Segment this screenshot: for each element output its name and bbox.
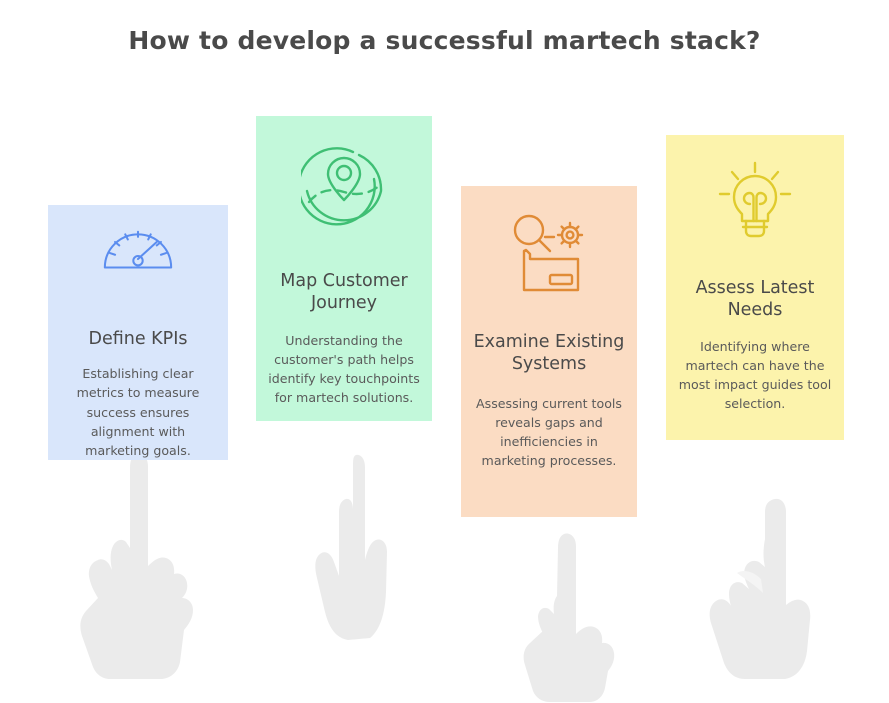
card-title: Map Customer Journey (266, 270, 422, 315)
pointing-hand-3-icon (520, 530, 616, 703)
magnifier-gear-document-icon (508, 213, 590, 297)
page-title: How to develop a successful martech stac… (0, 26, 889, 55)
lightbulb-idea-icon (712, 161, 798, 239)
card-examine-existing-systems[interactable]: Examine Existing Systems Assessing curre… (461, 186, 637, 517)
speedometer-gauge-icon (96, 225, 180, 271)
map-location-pin-icon (301, 146, 387, 232)
pointing-hand-4-icon (707, 495, 815, 680)
card-assess-latest-needs[interactable]: Assess Latest Needs Identifying where ma… (666, 135, 844, 440)
card-body: Assessing current tools reveals gaps and… (473, 394, 625, 471)
card-title: Assess Latest Needs (678, 277, 832, 322)
infographic-canvas: How to develop a successful martech stac… (0, 0, 889, 703)
card-map-customer-journey[interactable]: Map Customer Journey Understanding the c… (256, 116, 432, 421)
card-body: Identifying where martech can have the m… (678, 337, 832, 414)
pointing-hand-2-icon (312, 452, 398, 642)
card-body: Understanding the customer's path helps … (266, 331, 422, 408)
pointing-hand-1-icon (76, 448, 201, 680)
card-title: Examine Existing Systems (473, 331, 625, 376)
card-title: Define KPIs (62, 328, 214, 350)
card-body: Establishing clear metrics to measure su… (62, 364, 214, 460)
card-define-kpis[interactable]: Define KPIs Establishing clear metrics t… (48, 205, 228, 460)
